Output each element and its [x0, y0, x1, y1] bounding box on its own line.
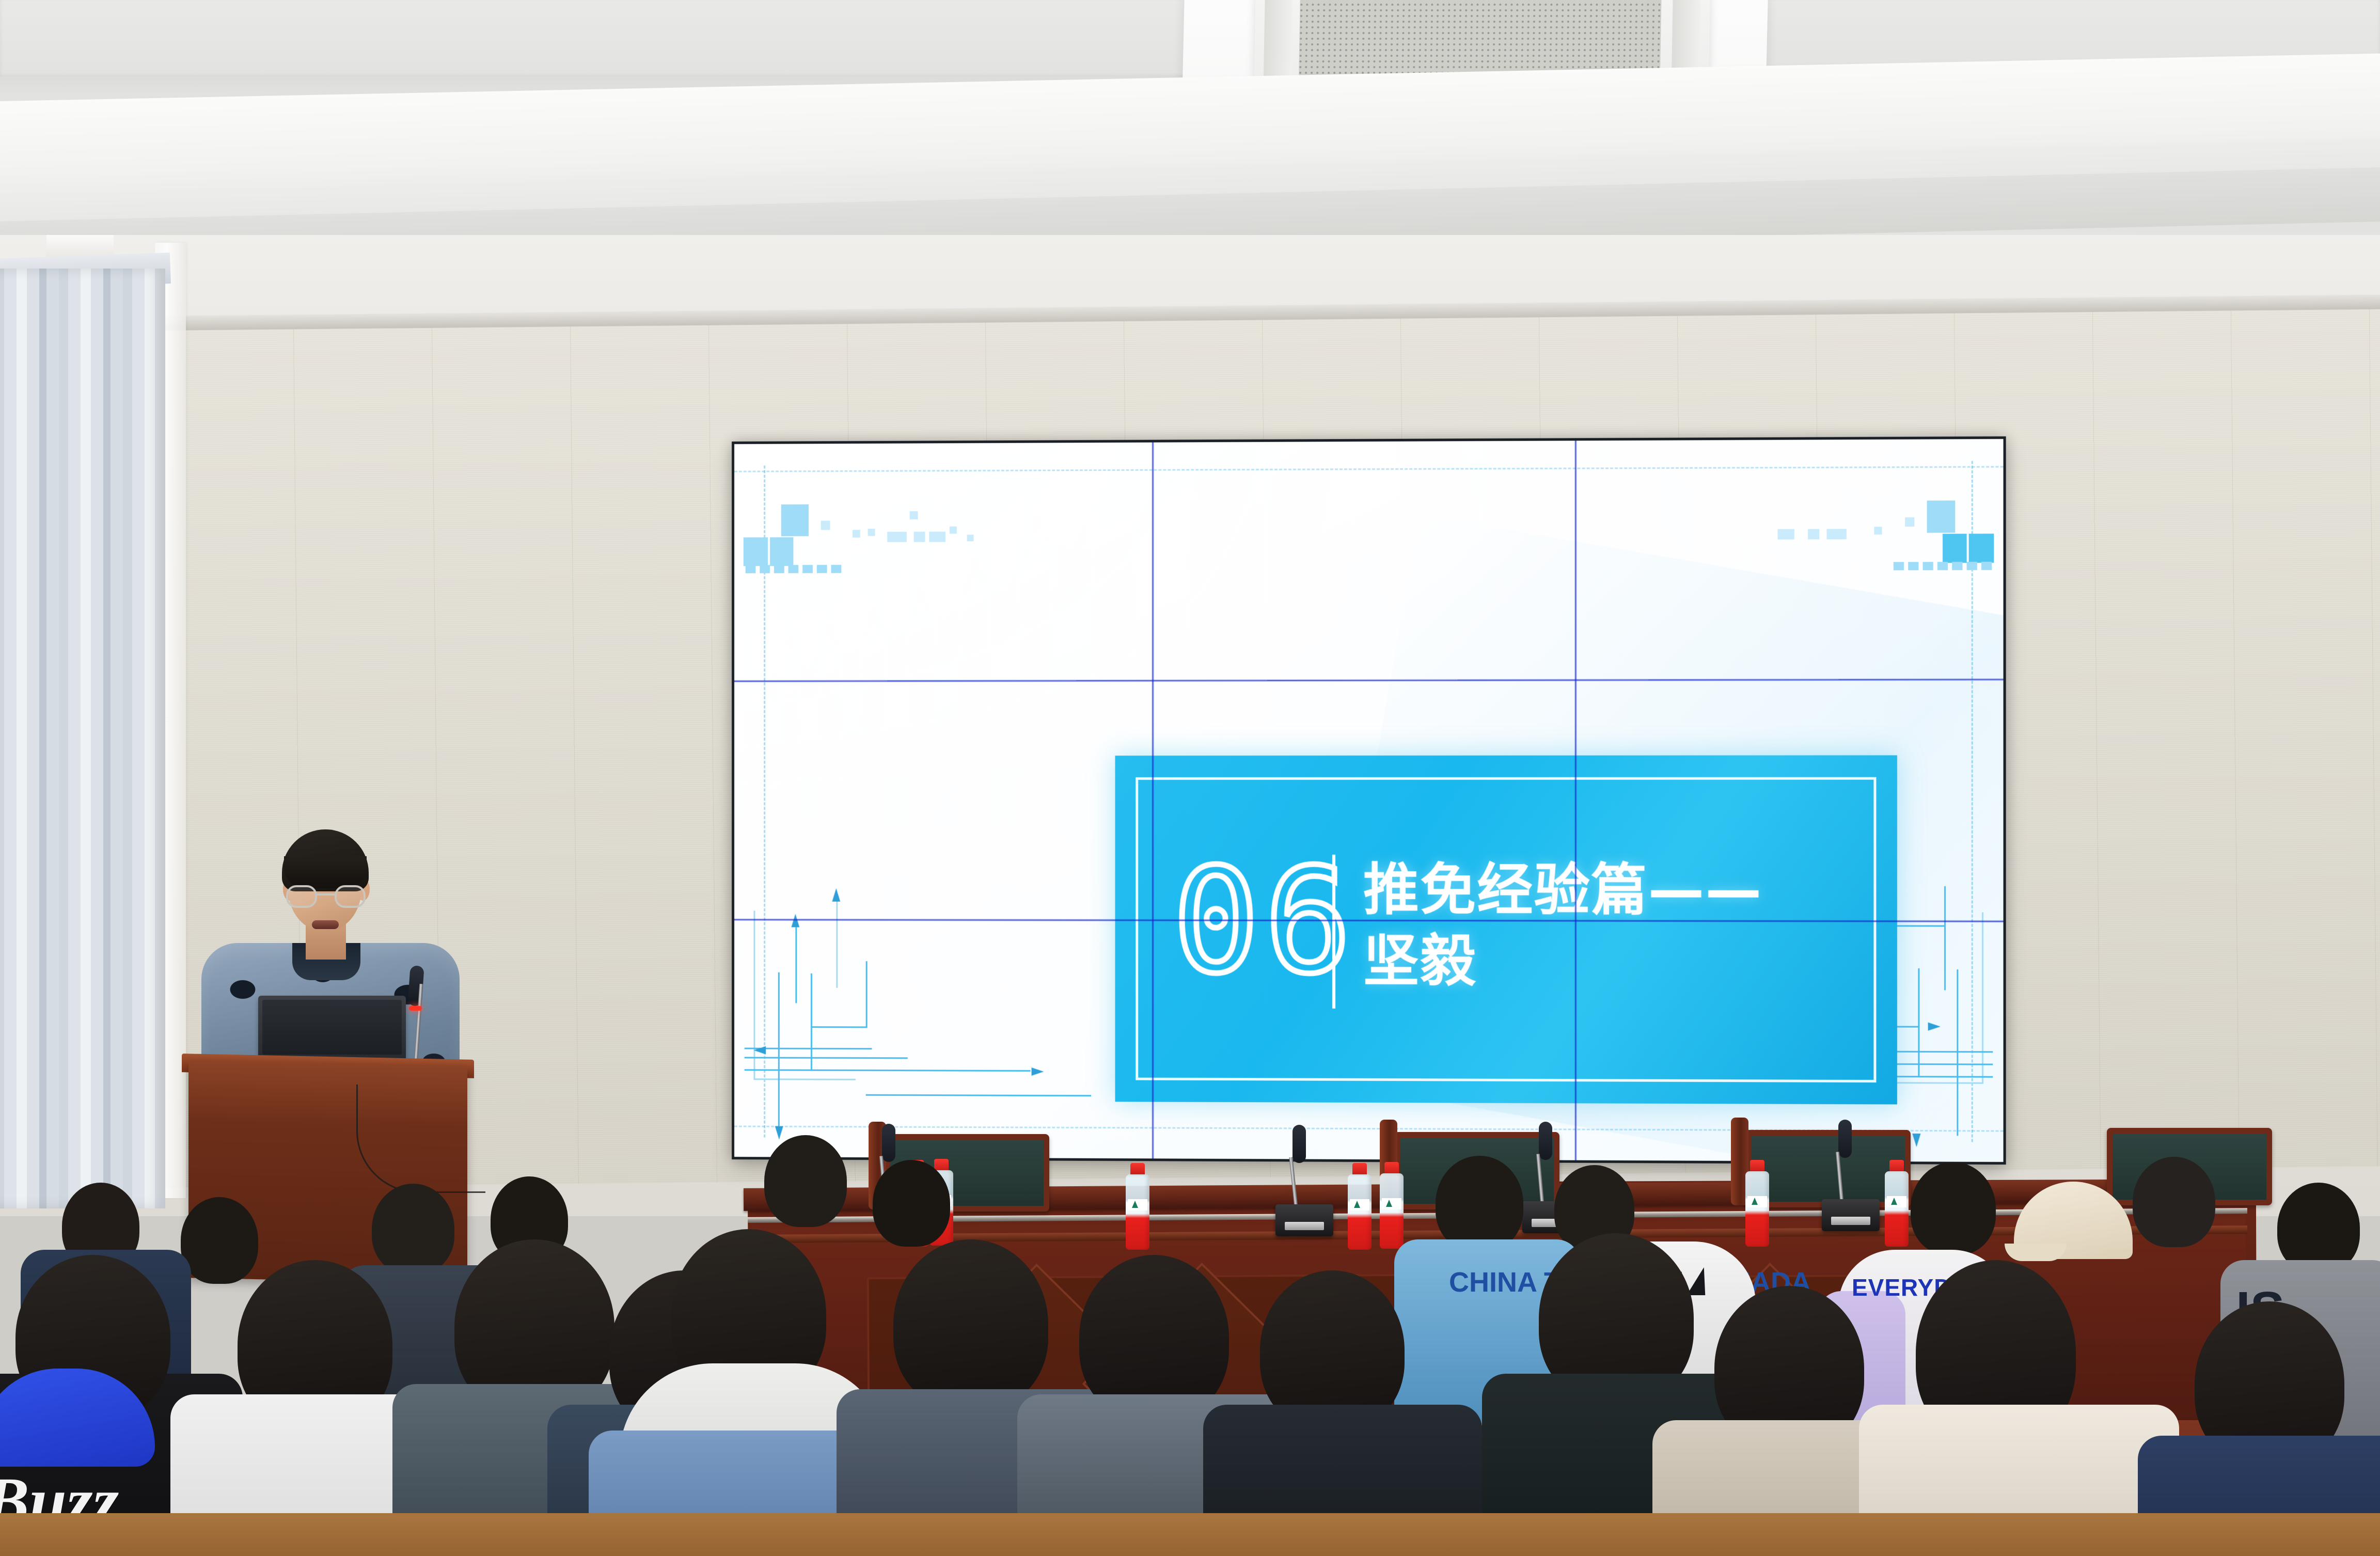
audience-head [2277, 1183, 2360, 1273]
slide-decor-square [821, 521, 830, 530]
floor [0, 1513, 2380, 1556]
slide-decor-square [1808, 529, 1819, 539]
slide-circuit-trace [811, 1026, 867, 1028]
audience-head [873, 1160, 950, 1247]
slide-circuit-trace [866, 961, 868, 1028]
slide-circuit-arrow-right [1928, 1023, 1941, 1031]
slide-decor-square [853, 530, 860, 538]
slide-circuit-trace [1944, 886, 1946, 990]
audience-head-front [893, 1239, 1048, 1410]
bottle-body [1380, 1173, 1404, 1249]
window-curtain [0, 269, 165, 1208]
slide-decor-square [887, 532, 907, 542]
conference-microphone-base[interactable] [1822, 1199, 1880, 1231]
slide-decor-square [781, 505, 809, 537]
slide-decor-square [1981, 562, 1992, 570]
slide-circuit-trace [753, 1078, 855, 1080]
slide-circuit-arrow-down [775, 1126, 783, 1140]
bottle-body [1745, 1171, 1769, 1247]
slide-decor-square [744, 537, 768, 566]
slide-circuit-trace [1918, 968, 1919, 1077]
bottle-cap [1130, 1163, 1145, 1175]
slide-decor-square [802, 565, 813, 573]
slide-decor-square [789, 565, 799, 573]
conference-microphone-head [882, 1124, 895, 1162]
slide-circuit-trace [1982, 912, 1983, 1083]
audience-head [764, 1135, 847, 1227]
presenter-laptop[interactable] [258, 996, 406, 1062]
slide-circuit-trace [811, 973, 812, 1071]
presentation-slide: 06 推免经验篇—— 坚毅 [734, 439, 2004, 1162]
water-bottle[interactable] [1348, 1163, 1372, 1250]
slide-decor-square [831, 565, 841, 573]
water-bottle[interactable] [1745, 1160, 1769, 1247]
slide-decor-square [1952, 562, 1962, 570]
slide-section-number-wrap: 06 [1173, 855, 1327, 1004]
slide-circuit-trace [745, 1069, 1031, 1072]
slide-decor-square [746, 565, 756, 573]
glasses-lens-left [286, 885, 317, 908]
presenter-glasses-icon [286, 885, 366, 908]
audience-head [1436, 1156, 1523, 1251]
slide-decor-square [1967, 562, 1977, 570]
water-drop-icon [1354, 1201, 1360, 1208]
slide-decor-square [1894, 562, 1904, 570]
conference-microphone-head [1539, 1122, 1552, 1160]
slide-dashed-rule-top [734, 466, 2004, 472]
slide-decor-square [868, 529, 875, 536]
slide-decor-square [967, 535, 974, 541]
bottle-body [1126, 1174, 1149, 1250]
slide-decor-square [1943, 534, 1967, 563]
bottle-cap [1750, 1160, 1764, 1172]
cap-brim [2005, 1244, 2067, 1261]
glasses-bridge [317, 893, 335, 895]
audience-head [1911, 1162, 1996, 1255]
slide-decor-square [1927, 500, 1956, 533]
slide-decor-square [914, 532, 925, 542]
slide-decor-square [1923, 562, 1933, 570]
slide-circuit-trace [866, 1094, 1091, 1096]
slide-decor-square [1826, 529, 1846, 539]
slide-decor-square [770, 537, 793, 566]
lecture-hall-scene: 06 推免经验篇—— 坚毅 [0, 0, 2380, 1556]
slide-decor-square [1778, 529, 1794, 539]
slide-decor-square [774, 565, 784, 573]
slide-circuit-arrow-down [1912, 1134, 1920, 1147]
slide-circuit-arrow-right [1032, 1067, 1044, 1076]
slide-decor-square [950, 526, 957, 533]
slide-decor-square [760, 565, 770, 573]
slide-circuit-arrow-left [753, 1046, 766, 1055]
slide-decor-square [929, 531, 945, 542]
conference-microphone-base[interactable] [1275, 1204, 1333, 1236]
video-wall-seam-vertical [1152, 443, 1154, 1159]
slide-decor-square [1874, 527, 1882, 535]
audience-head [2133, 1157, 2215, 1247]
presenter-mouth [312, 920, 339, 929]
glasses-lens-right [335, 885, 366, 908]
slide-title-block: 06 推免经验篇—— 坚毅 [1115, 755, 1897, 1104]
slide-circuit-trace [753, 911, 755, 1080]
slide-title-line-2: 坚毅 [1363, 926, 1762, 998]
audience-head [181, 1197, 258, 1284]
microphone-active-led [409, 1006, 422, 1011]
conference-microphone-head [1293, 1125, 1306, 1163]
slide-circuit-arrow-up [832, 888, 840, 902]
slide-circuit-trace [745, 1057, 908, 1059]
slide-decor-square [1908, 562, 1918, 570]
video-wall-display-area: 06 推免经验篇—— 坚毅 [734, 439, 2004, 1162]
water-drop-icon [1132, 1201, 1138, 1208]
water-drop-icon [1891, 1198, 1897, 1205]
bottle-cap [934, 1159, 949, 1171]
bottle-cap [1384, 1162, 1399, 1174]
water-bottle[interactable] [1380, 1162, 1404, 1249]
bottle-cap [1889, 1160, 1904, 1172]
slide-circuit-trace [836, 901, 838, 988]
video-wall[interactable]: 06 推免经验篇—— 坚毅 [732, 436, 2006, 1165]
slide-decor-square [1905, 517, 1914, 527]
slide-decor-square [1937, 562, 1948, 570]
slide-title-text-wrap: 推免经验篇—— 坚毅 [1363, 855, 1762, 998]
water-bottle[interactable] [1126, 1163, 1149, 1250]
conference-microphone-head [1838, 1120, 1852, 1158]
video-wall-seam-vertical [1574, 441, 1577, 1160]
slide-decor-square [1969, 533, 1994, 563]
bottle-body [1348, 1174, 1372, 1250]
water-bottle[interactable] [1885, 1160, 1909, 1247]
bottle-body [1885, 1171, 1909, 1247]
water-drop-icon [1386, 1200, 1392, 1207]
slide-title-line-1: 推免经验篇—— [1363, 855, 1762, 926]
slide-title-row: 06 推免经验篇—— 坚毅 [1173, 855, 1762, 1010]
bottle-cap [1352, 1163, 1367, 1175]
slide-decor-square [817, 565, 827, 573]
slide-circuit-trace [795, 926, 797, 1003]
water-drop-icon [1752, 1198, 1758, 1205]
slide-decor-square [910, 511, 918, 520]
audience-head [372, 1184, 454, 1274]
